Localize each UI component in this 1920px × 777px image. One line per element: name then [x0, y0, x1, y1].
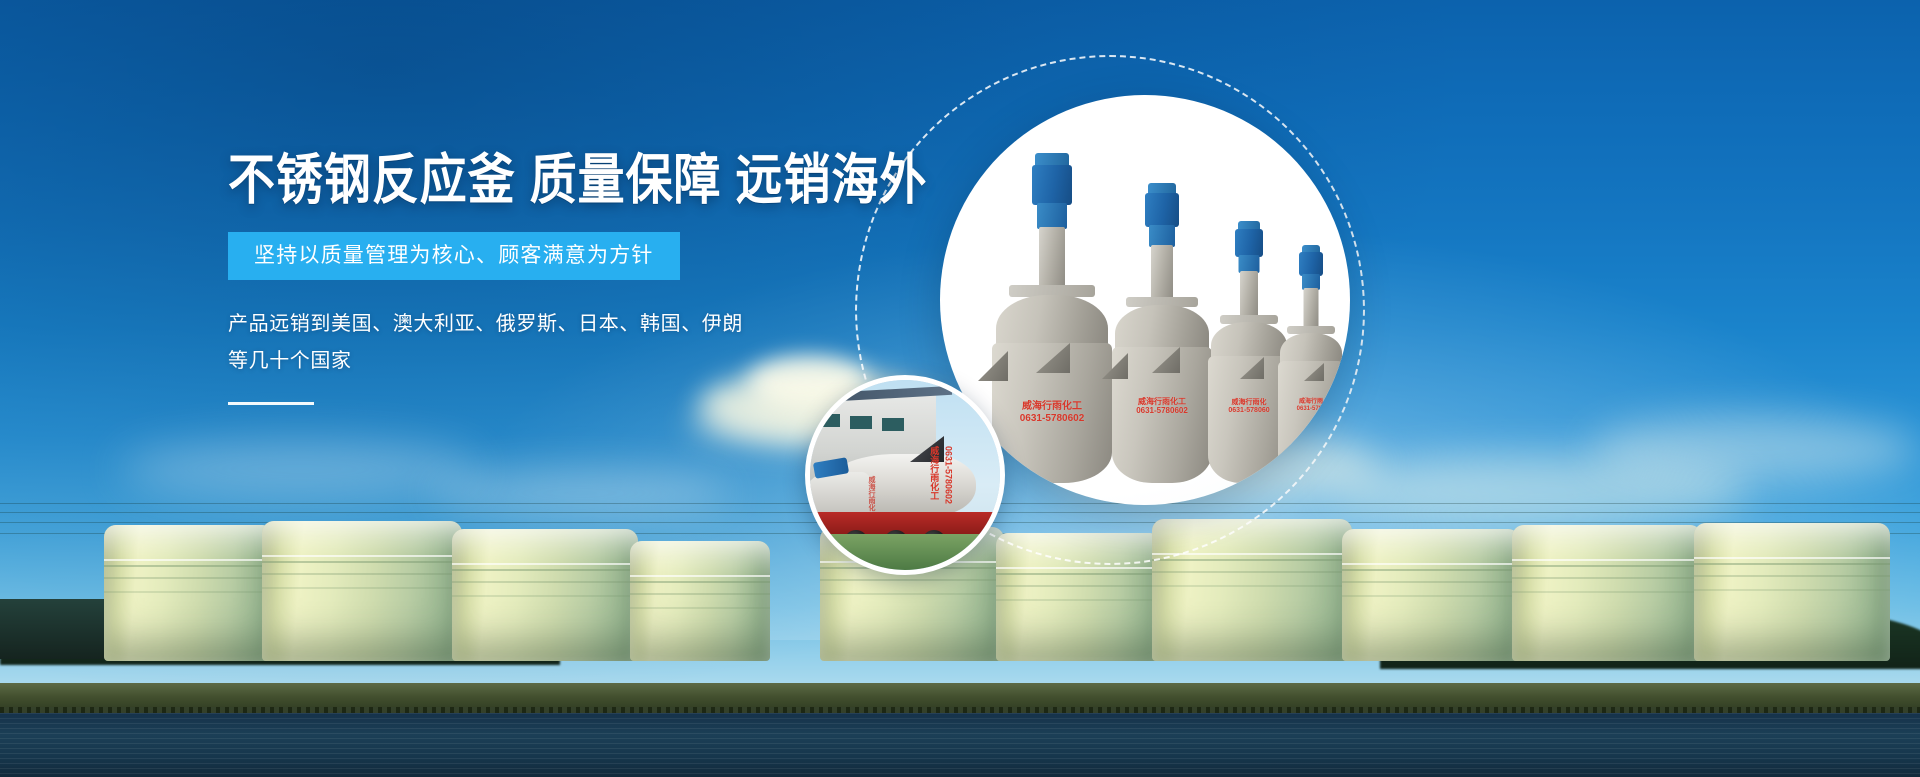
banner-description: 产品远销到美国、澳大利亚、俄罗斯、日本、韩国、伊朗 等几十个国家: [228, 306, 788, 380]
reactor-brand-text: 威海行雨化工 0631-5780602: [1020, 401, 1085, 424]
description-line-2: 等几十个国家: [228, 343, 788, 380]
agitator-shaft: [1151, 245, 1173, 301]
banner-copy: 不锈钢反应釜 质量保障 远销海外 坚持以质量管理为核心、顾客满意为方针 产品远销…: [228, 150, 868, 405]
brand-name: 威海行雨化: [1231, 399, 1266, 406]
window: [882, 418, 904, 431]
cloud-icon: [1590, 415, 1920, 481]
window: [850, 416, 872, 429]
storage-tank: [452, 529, 638, 661]
photo-brand-text: 威海行雨化工: [928, 446, 939, 500]
subtitle-badge: 坚持以质量管理为核心、顾客满意为方针: [228, 232, 680, 280]
storage-tank: [630, 541, 770, 661]
gearbox: [1149, 225, 1175, 247]
gearbox: [1037, 203, 1067, 229]
water: [0, 713, 1920, 777]
subtitle-wrap: 坚持以质量管理为核心、顾客满意为方针: [228, 232, 868, 280]
storage-tank: [1342, 529, 1520, 661]
brand-phone: 0631-5780602: [1136, 406, 1188, 415]
brand-name: 威海行雨化: [868, 476, 875, 511]
brand-name: 威海行雨化工: [1138, 397, 1186, 406]
motor-icon: [1299, 252, 1323, 276]
brand-name: 威海行雨: [1299, 399, 1323, 405]
vessel-head: [1115, 305, 1209, 351]
photo-brand-phone: 0631-5780602: [942, 446, 953, 504]
agitator-shaft: [1304, 288, 1319, 330]
storage-tank: [1512, 525, 1702, 661]
brand-name: 威海行雨化工: [929, 446, 939, 500]
factory-photo-circle: 威海行雨化工 0631-5780602 威海行雨化: [805, 375, 1005, 575]
reactor-vessel: 威海行雨化工 0631-5780602: [988, 153, 1116, 483]
brand-phone: 0631-578060: [1228, 407, 1269, 414]
storage-tank: [996, 533, 1162, 661]
grass-foreground: [810, 534, 1000, 570]
agitator-shaft: [1039, 227, 1065, 289]
storage-tank: [1152, 519, 1352, 661]
storage-tank: [104, 525, 274, 661]
brand-phone: 0631-5780602: [943, 446, 953, 504]
reactor-vessel: 威海行雨 0631-5780: [1276, 245, 1346, 483]
reactor-brand-text: 威海行雨化 0631-578060: [1228, 399, 1269, 415]
reactor-group: 威海行雨化工 0631-5780602 威海行雨化工 0631-5780602: [940, 95, 1350, 505]
product-showcase-circle: 威海行雨化工 0631-5780602 威海行雨化工 0631-5780602: [940, 95, 1350, 505]
window: [818, 414, 840, 427]
page-title: 不锈钢反应釜 质量保障 远销海外: [228, 150, 881, 211]
storage-tank: [262, 521, 462, 661]
brand-name: 威海行雨化工: [1022, 401, 1082, 412]
brand-phone: 0631-5780602: [1020, 413, 1085, 424]
hero-banner: 威海行雨化工 0631-5780602 威海行雨化工 0631-5780602: [0, 0, 1920, 777]
truck-bed: [816, 512, 1002, 534]
description-line-1: 产品远销到美国、澳大利亚、俄罗斯、日本、韩国、伊朗: [228, 306, 788, 343]
motor-icon: [1145, 193, 1179, 227]
brand-phone: 0631-5780: [1297, 406, 1326, 412]
reactor-vessel: 威海行雨化工 0631-5780602: [1108, 183, 1216, 483]
photo-brand-secondary: 威海行雨化: [866, 476, 876, 511]
motor-icon: [1032, 165, 1072, 205]
reactor-brand-text: 威海行雨化工 0631-5780602: [1136, 397, 1188, 415]
vessel-head: [996, 295, 1108, 349]
agitator-shaft: [1240, 271, 1258, 319]
storage-tank: [1694, 523, 1890, 661]
reactor-brand-text: 威海行雨 0631-5780: [1297, 399, 1326, 413]
divider-rule: [228, 402, 314, 405]
motor-icon: [1235, 229, 1263, 257]
